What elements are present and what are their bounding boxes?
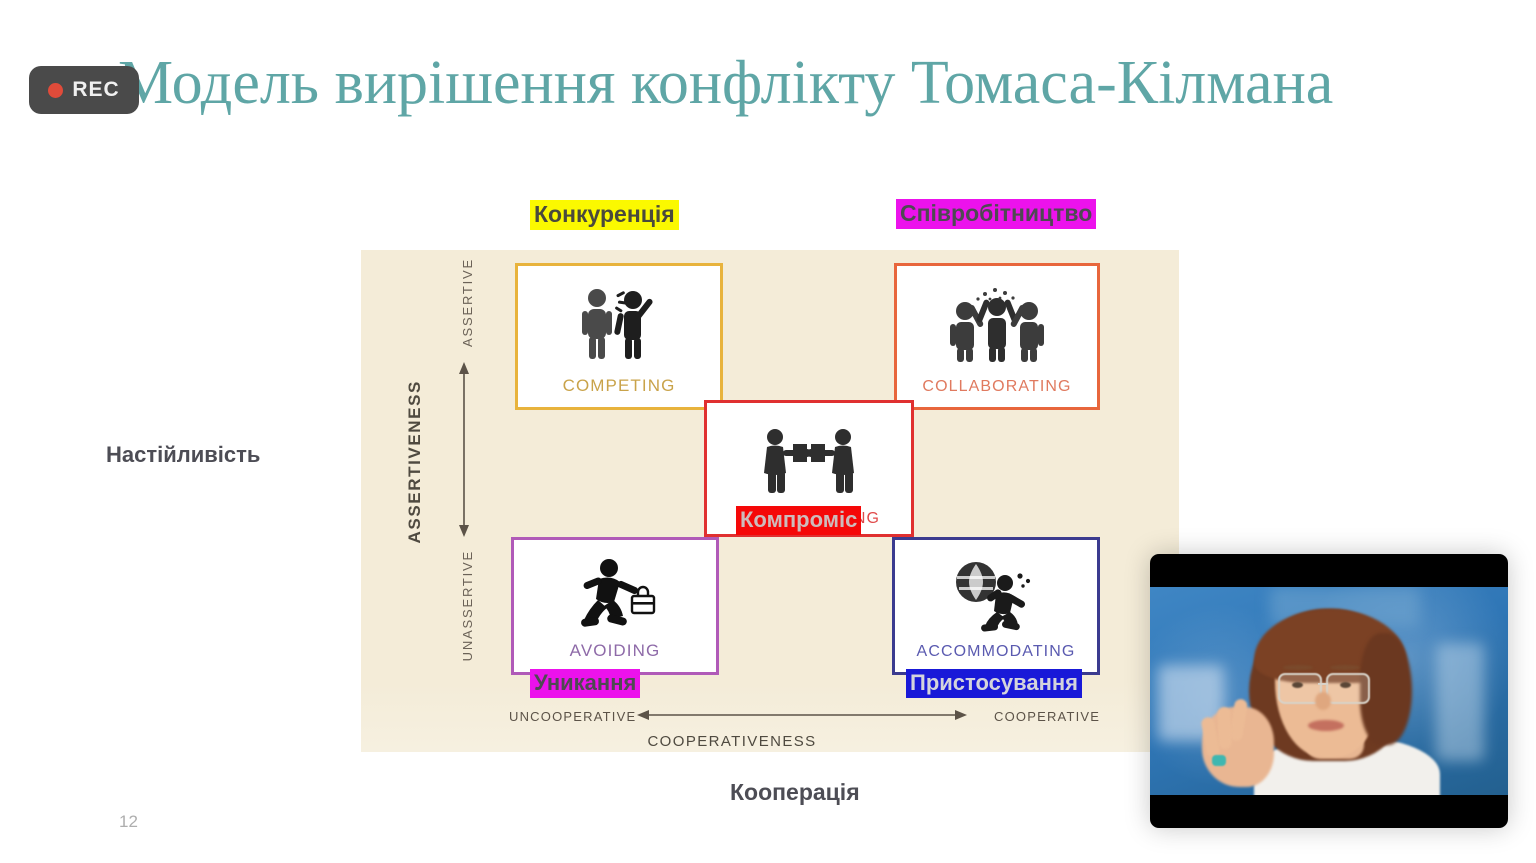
presenter-eye-right xyxy=(1340,682,1351,688)
person-carrying-globe-icon xyxy=(895,540,1097,643)
presenter-glasses-lens-right xyxy=(1326,673,1370,704)
axis-label-cooperativeness: COOPERATIVENESS xyxy=(647,733,816,750)
vertical-double-arrow-icon xyxy=(457,362,471,537)
annotation-prystosuvannya: Пристосування xyxy=(906,669,1082,698)
presenter-finger-2 xyxy=(1217,707,1231,749)
presenter-glasses-bridge xyxy=(1318,683,1328,685)
quadrant-label-avoiding: AVOIDING xyxy=(570,641,661,672)
presenter-webcam-video[interactable] xyxy=(1150,554,1508,828)
quadrant-collaborating[interactable]: COLLABORATING xyxy=(894,263,1100,410)
annotation-konkurentsiya: Конкуренція xyxy=(530,200,679,230)
presenter-eye-left xyxy=(1292,682,1303,688)
quadrant-competing[interactable]: COMPETING xyxy=(515,263,723,410)
axis-tick-assertive: ASSERTIVE xyxy=(460,258,475,347)
three-people-celebrating-icon xyxy=(897,266,1097,378)
axis-tick-unassertive: UNASSERTIVE xyxy=(460,550,475,661)
quadrant-label-accommodating: ACCOMMODATING xyxy=(917,643,1076,672)
annotation-unykannya: Уникання xyxy=(530,669,640,698)
horizontal-double-arrow-icon xyxy=(637,708,967,722)
two-people-puzzle-pieces-icon xyxy=(707,403,911,510)
cooperativeness-label-ua: Кооперація xyxy=(730,779,860,806)
axis-tick-uncooperative: UNCOOPERATIVE xyxy=(509,709,636,724)
presenter-mouth xyxy=(1308,720,1344,731)
recording-indicator-badge: REC xyxy=(29,66,139,114)
quadrant-label-collaborating: COLLABORATING xyxy=(922,378,1071,407)
annotation-kompromis: Компроміс xyxy=(736,506,861,535)
recording-label: REC xyxy=(72,78,119,102)
two-people-arguing-icon xyxy=(518,266,720,376)
presenter-nose xyxy=(1315,692,1331,710)
quadrant-avoiding[interactable]: AVOIDING xyxy=(511,537,719,675)
person-running-with-briefcase-icon xyxy=(514,540,716,641)
presenter-eyebrow-right xyxy=(1330,665,1360,670)
page-title: Модель вирішення конфлікту Томаса-Кілман… xyxy=(118,52,1338,115)
presenter-ring xyxy=(1212,755,1226,766)
quadrant-accommodating[interactable]: ACCOMMODATING xyxy=(892,537,1100,675)
slide-page-number: 12 xyxy=(119,812,138,832)
assertiveness-label-ua: Настійливість xyxy=(106,442,260,468)
webcam-video-frame xyxy=(1150,587,1508,795)
record-dot-icon xyxy=(48,83,63,98)
annotation-spivrobitnytstvo: Співробітництво xyxy=(896,199,1096,229)
presenter-eyebrow-left xyxy=(1283,665,1313,670)
axis-label-assertiveness: ASSERTIVENESS xyxy=(405,380,425,543)
quadrant-label-competing: COMPETING xyxy=(563,376,676,407)
presenter-figure xyxy=(1150,587,1508,795)
axis-tick-cooperative: COOPERATIVE xyxy=(994,709,1100,724)
